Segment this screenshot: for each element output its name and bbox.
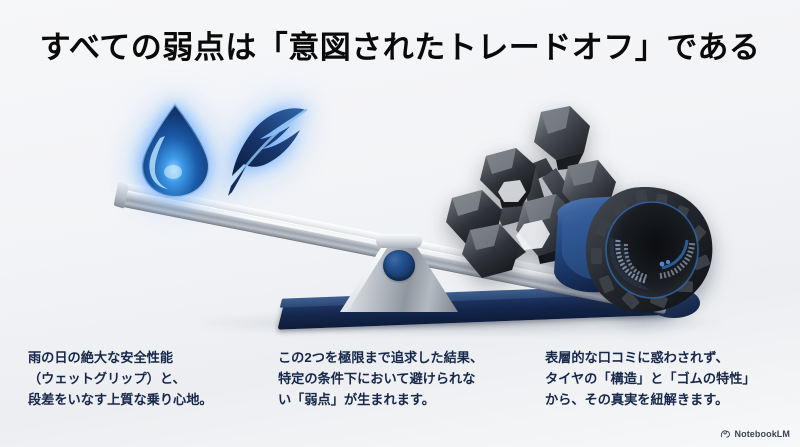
illustration-stage bbox=[0, 88, 800, 340]
notebooklm-label: NotebookLM bbox=[735, 429, 791, 439]
caption-truth: 表層的な口コミに惑わされず、 タイヤの「構造」と「ゴムの特性」 から、その真実を… bbox=[545, 348, 795, 411]
caption-row: 雨の日の絶大な安全性能 （ウェットグリップ）と、 段差をいなす上質な乗り心地。 … bbox=[0, 348, 800, 420]
notebooklm-watermark: NotebookLM bbox=[720, 429, 791, 439]
page-title: すべての弱点は「意図されたトレードオフ」である bbox=[0, 22, 800, 67]
fulcrum-top-cap bbox=[376, 234, 422, 248]
caption-weak-point: この2つを極限まで追求した結果、 特定の条件下において避けられな い「弱点」が生… bbox=[278, 348, 528, 411]
water-droplet-icon bbox=[138, 102, 212, 198]
notebooklm-logo-icon bbox=[720, 429, 731, 439]
tire-cutaway-icon bbox=[540, 180, 720, 320]
feather-icon bbox=[222, 102, 314, 198]
caption-wet-grip: 雨の日の絶大な安全性能 （ウェットグリップ）と、 段差をいなす上質な乗り心地。 bbox=[28, 348, 268, 411]
slide-canvas: すべての弱点は「意図されたトレードオフ」である bbox=[0, 0, 800, 447]
pivot-bolt bbox=[383, 250, 415, 281]
